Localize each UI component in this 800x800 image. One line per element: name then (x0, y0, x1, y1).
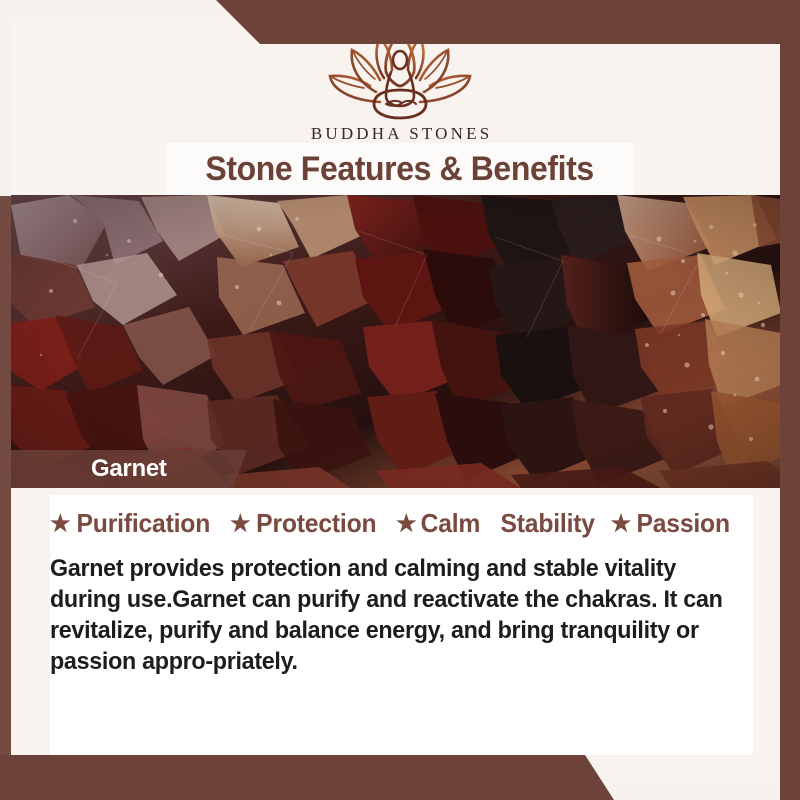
frame-left-accent (0, 196, 11, 800)
stone-name: Garnet (91, 455, 167, 483)
benefit-label: Stability (501, 508, 595, 539)
stone-name-band: Garnet (11, 450, 247, 488)
benefit-protection: ★ Protection (230, 508, 380, 539)
star-icon: ★ (611, 512, 631, 535)
star-icon: ★ (50, 512, 70, 535)
benefit-stability: Stability (498, 508, 597, 539)
benefit-calm: ★ Calm (396, 508, 482, 539)
star-icon: ★ (230, 512, 250, 535)
page-title: Stone Features & Benefits (206, 150, 594, 189)
stone-description: Garnet provides protection and calming a… (50, 553, 729, 677)
star-icon: ★ (396, 512, 416, 535)
benefits-row: ★ Purification ★ Protection ★ Calm Stabi… (50, 503, 753, 543)
hero-image (11, 195, 781, 488)
benefit-passion: ★ Passion (611, 508, 733, 539)
benefit-label: Passion (636, 508, 729, 539)
garnet-crystal-cluster-photo (11, 195, 781, 488)
benefit-label: Calm (421, 508, 481, 539)
title-band: Stone Features & Benefits (166, 143, 634, 195)
poster-root: BUDDHA STONES Stone Features & Benefits (0, 0, 800, 800)
content-area: ★ Purification ★ Protection ★ Calm Stabi… (50, 503, 753, 677)
benefit-purification: ★ Purification (50, 508, 214, 539)
brand-name: BUDDHA STONES (0, 124, 800, 144)
frame-right-accent (780, 0, 800, 800)
benefit-label: Purification (77, 508, 211, 539)
benefit-label: Protection (257, 508, 377, 539)
